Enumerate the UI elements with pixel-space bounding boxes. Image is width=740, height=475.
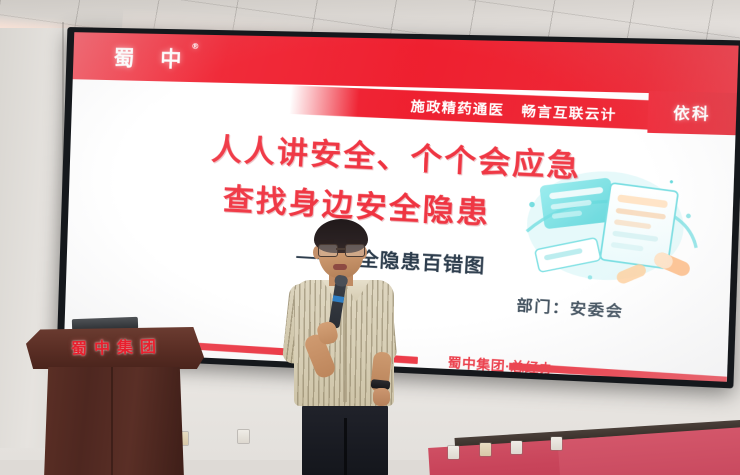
conference-room-photo: 蜀 中® 施政精药通医畅言互联云计 依科: [0, 0, 740, 475]
department-label: 部门：: [516, 297, 570, 318]
wall-outlet: [480, 443, 491, 456]
podium-sign-text: 蜀中集团: [42, 332, 193, 360]
trouser-split: [344, 418, 347, 475]
partner-logo-block: 依科: [647, 91, 737, 135]
department-value: 安委会: [569, 300, 624, 321]
slogan-left: 施政精药通医: [410, 99, 504, 118]
podium: 蜀中集团: [20, 327, 210, 475]
slide-title: 人人讲安全、个个会应急 查找身边安全隐患: [68, 123, 735, 239]
speaker-right-hand: [373, 388, 390, 406]
company-logo-text: 蜀 中®: [113, 42, 199, 74]
podium-body: [44, 367, 184, 475]
speaker-trousers: [302, 402, 388, 475]
glasses-lens-left: [318, 244, 338, 257]
company-logo-label: 蜀 中: [113, 46, 191, 72]
wall-outlet: [511, 441, 522, 454]
registered-mark: ®: [191, 42, 199, 51]
slogan-right: 畅言互联云计: [521, 103, 617, 123]
speaker: [288, 222, 400, 475]
shirt-placket: [343, 284, 347, 402]
wall-outlet: [448, 446, 459, 459]
glasses-lens-right: [345, 244, 365, 257]
wall-outlet: [238, 430, 249, 443]
glasses-bridge: [336, 248, 345, 250]
microphone-band: [332, 295, 344, 303]
slogan-text: 施政精药通医畅言互联云计: [410, 95, 617, 124]
partner-logo-text: 依科: [673, 102, 711, 125]
glasses-icon: [317, 244, 365, 256]
speaker-mouth: [333, 264, 347, 270]
podium-seam: [111, 367, 113, 475]
wall-outlet: [551, 437, 562, 450]
